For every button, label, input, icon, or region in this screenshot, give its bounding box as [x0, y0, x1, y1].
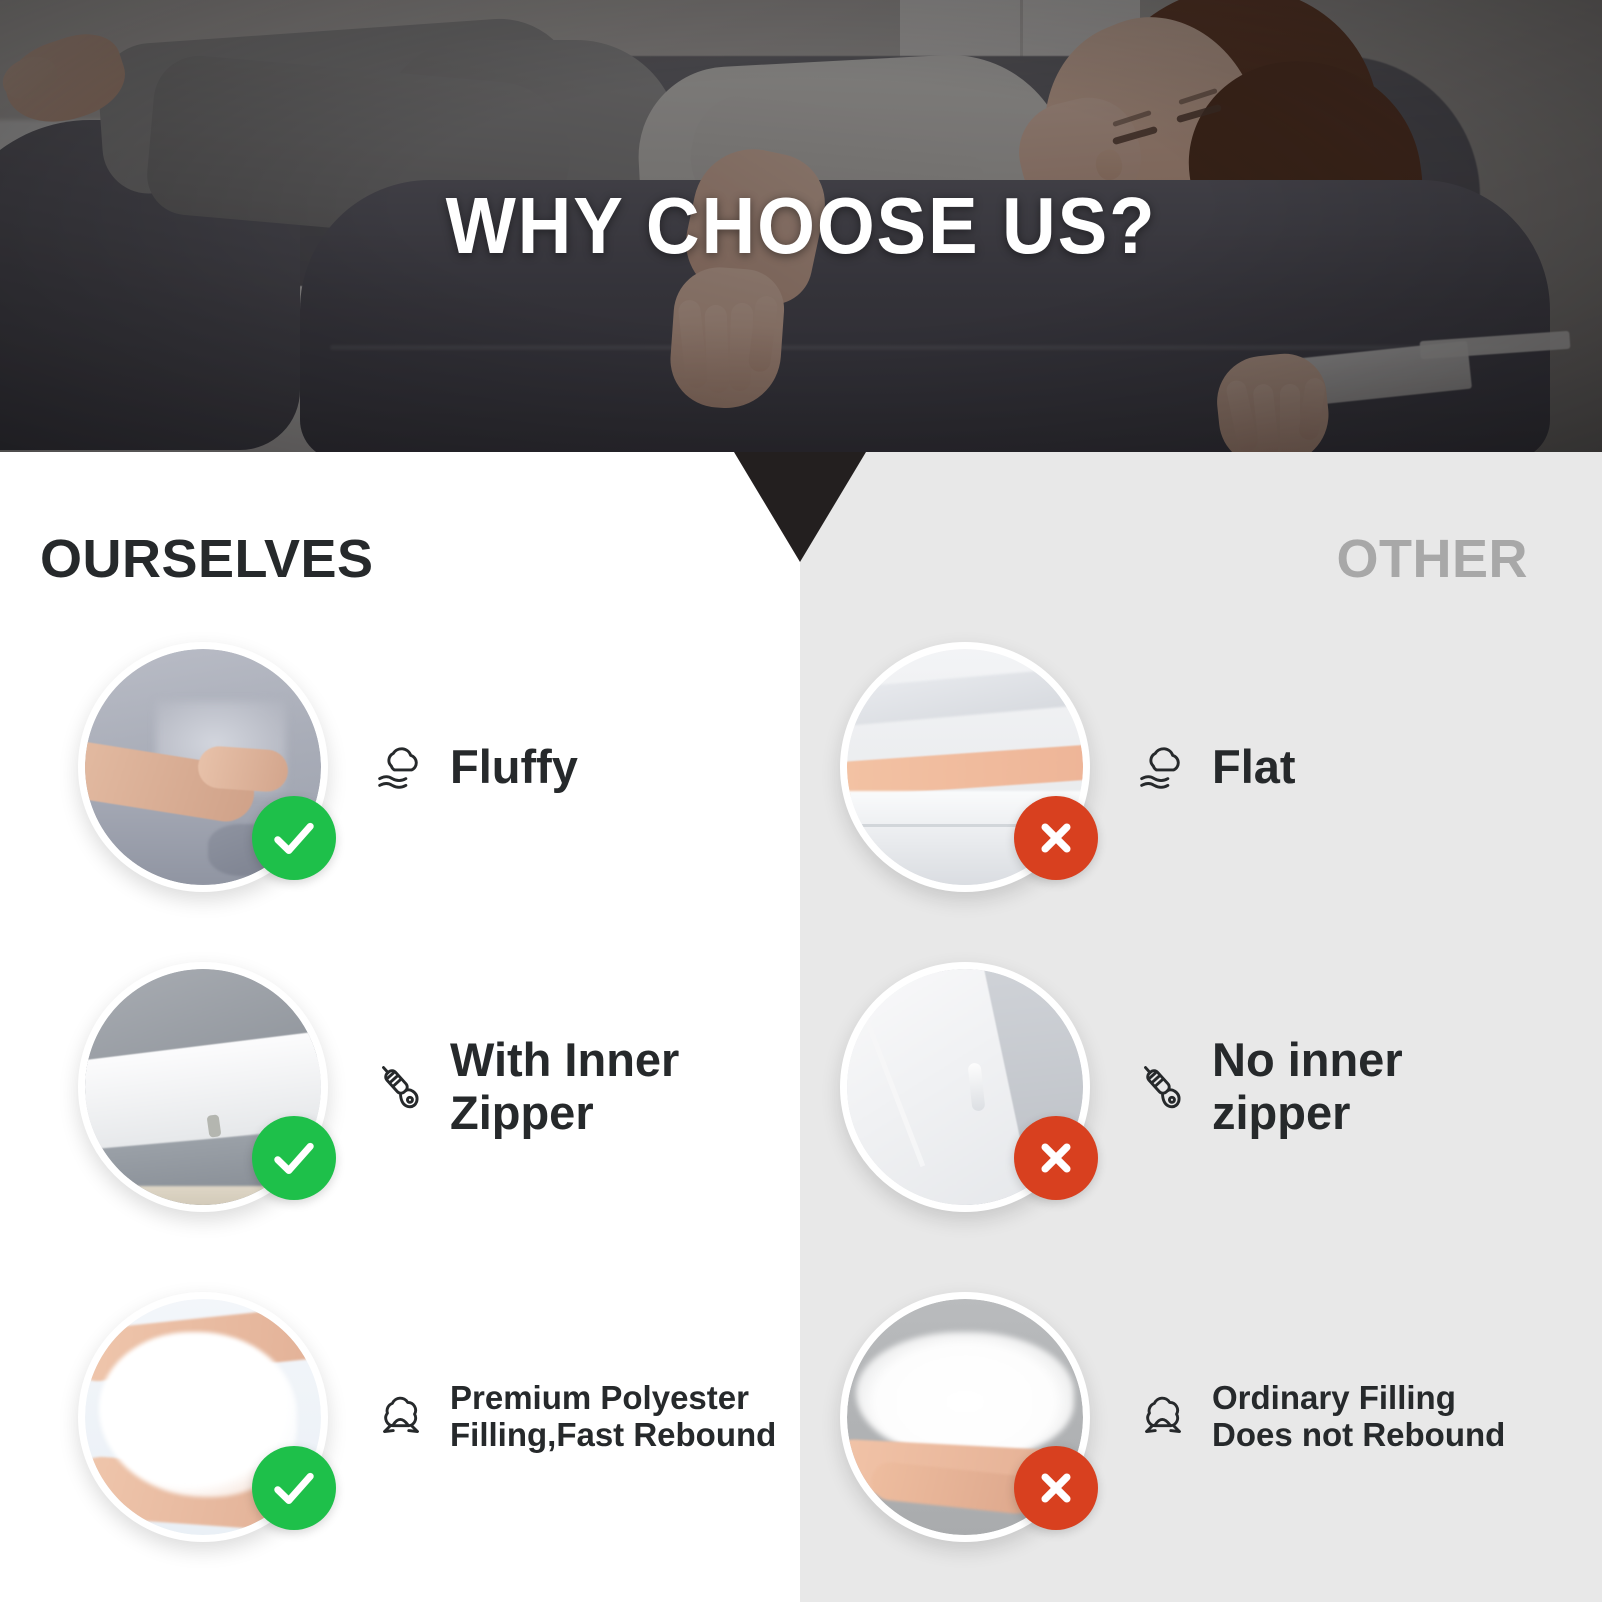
hero-title: WHY CHOOSE US? [56, 186, 1546, 266]
zipper-icon [370, 1056, 432, 1118]
divider-notch-triangle [734, 452, 866, 562]
check-badge [252, 1446, 336, 1530]
feature-label: No inner zipper [1212, 1034, 1403, 1139]
thumbnail-wrap [840, 1292, 1090, 1542]
feature-row-other-no-zipper: No inner zipper [840, 942, 1600, 1232]
feature-text-block: No inner zipper [1132, 1034, 1403, 1139]
feature-label: Fluffy [450, 741, 578, 794]
zipper-icon [1132, 1056, 1194, 1118]
check-icon [268, 1462, 320, 1514]
fluffy-cloud-icon [370, 736, 432, 798]
feature-row-ourselves-inner-zipper: With Inner Zipper [78, 942, 800, 1232]
feature-text-block: Fluffy [370, 736, 578, 798]
feature-text-block: Ordinary Filling Does not Rebound [1132, 1380, 1505, 1454]
thumbnail-wrap [78, 642, 328, 892]
feature-text-block: With Inner Zipper [370, 1034, 679, 1139]
comparison-section: OURSELVES OTHER [0, 452, 1602, 1602]
feature-label-line1: Ordinary Filling [1212, 1379, 1456, 1416]
thumbnail-wrap [78, 962, 328, 1212]
infographic-page: WHY CHOOSE US? OURSELVES OTHER [0, 0, 1602, 1602]
feature-row-other-ordinary-filling: Ordinary Filling Does not Rebound [840, 1272, 1600, 1562]
check-badge [252, 796, 336, 880]
feature-row-ourselves-fluffy: Fluffy [78, 622, 800, 912]
fluffy-cloud-icon [1132, 736, 1194, 798]
feature-label: With Inner Zipper [450, 1034, 679, 1139]
feature-text-block: Flat [1132, 736, 1296, 798]
cross-badge [1014, 1116, 1098, 1200]
check-icon [268, 1132, 320, 1184]
cross-badge [1014, 1446, 1098, 1530]
check-badge [252, 1116, 336, 1200]
thumbnail-wrap [840, 962, 1090, 1212]
feature-label: Ordinary Filling Does not Rebound [1212, 1380, 1505, 1454]
feature-label-line1: No inner [1212, 1033, 1403, 1086]
feature-row-other-flat: Flat [840, 622, 1600, 912]
hero-banner: WHY CHOOSE US? [0, 0, 1602, 452]
column-heading-ourselves: OURSELVES [40, 532, 374, 586]
feature-label-line2: Filling,Fast Rebound [450, 1416, 776, 1453]
thumbnail-wrap [840, 642, 1090, 892]
feature-label: Flat [1212, 741, 1296, 794]
feature-label: Premium Polyester Filling,Fast Rebound [450, 1380, 776, 1454]
feature-row-ourselves-premium-filling: Premium Polyester Filling,Fast Rebound [78, 1272, 800, 1562]
feature-label-line1: With Inner [450, 1033, 679, 1086]
cross-icon [1030, 1132, 1082, 1184]
cross-icon [1030, 812, 1082, 864]
column-heading-other: OTHER [1337, 532, 1529, 586]
thumbnail-wrap [78, 1292, 328, 1542]
feature-text-block: Premium Polyester Filling,Fast Rebound [370, 1380, 776, 1454]
cross-badge [1014, 796, 1098, 880]
filling-cloud-icon [370, 1386, 432, 1448]
cross-icon [1030, 1462, 1082, 1514]
filling-cloud-icon [1132, 1386, 1194, 1448]
feature-label-line2: Does not Rebound [1212, 1416, 1505, 1453]
feature-label-line2: zipper [1212, 1086, 1350, 1139]
check-icon [268, 812, 320, 864]
feature-label-line1: Premium Polyester [450, 1379, 749, 1416]
feature-label-line2: Zipper [450, 1086, 594, 1139]
